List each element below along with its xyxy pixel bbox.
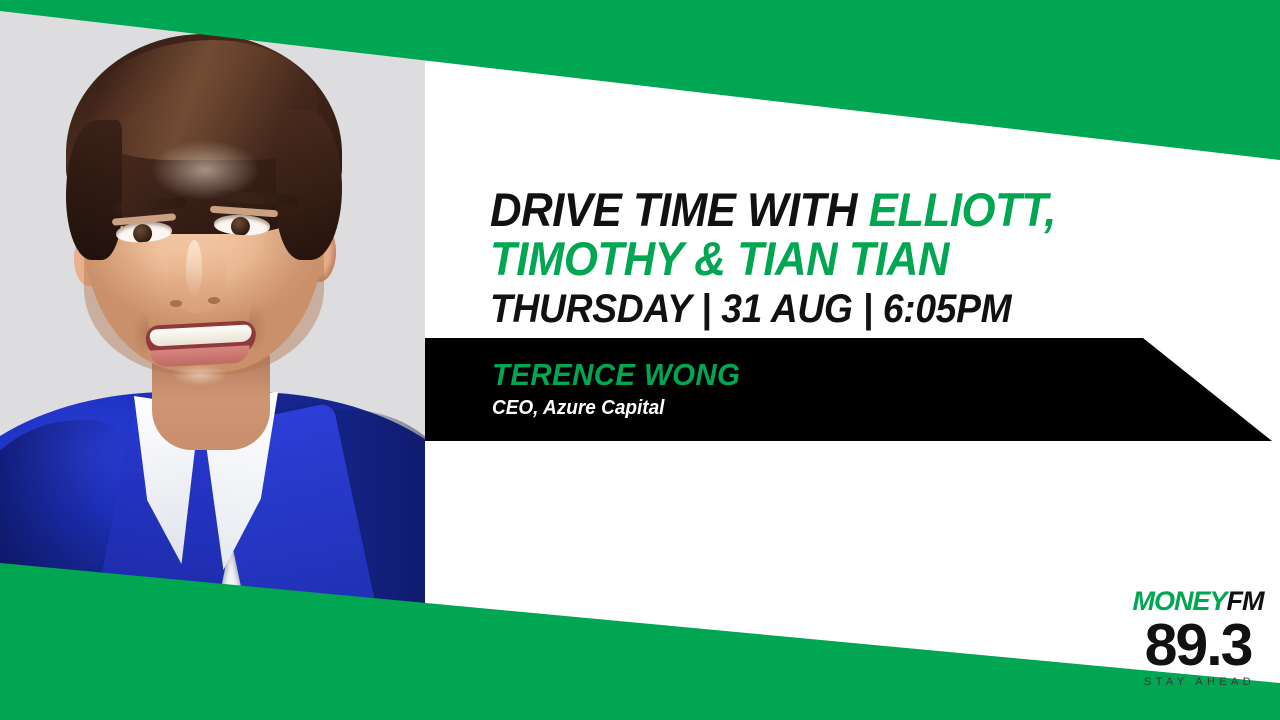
nostril-left xyxy=(170,300,182,307)
show-title-hosts-line2: TIMOTHY & TIAN TIAN xyxy=(490,232,949,285)
forehead-highlight xyxy=(150,140,260,200)
station-logo: MONEYFM 89.3 STAY AHEAD xyxy=(1128,588,1268,688)
iris-right xyxy=(230,216,250,236)
hair-side-left xyxy=(66,120,122,260)
nostril-right xyxy=(208,297,220,304)
show-title: DRIVE TIME WITH ELLIOTT,TIMOTHY & TIAN T… xyxy=(490,186,1178,284)
chin-highlight xyxy=(172,364,228,386)
show-title-plain: DRIVE TIME WITH xyxy=(490,183,869,236)
show-schedule: THURSDAY | 31 AUG | 6:05PM xyxy=(490,287,1011,332)
guest-role: CEO, Azure Capital xyxy=(492,397,664,420)
broadcast-promo-graphic: DRIVE TIME WITH ELLIOTT,TIMOTHY & TIAN T… xyxy=(0,0,1280,720)
nose-highlight xyxy=(186,240,202,298)
logo-wordmark: MONEYFM xyxy=(1128,588,1268,615)
guest-name: TERENCE WONG xyxy=(492,357,740,393)
iris-left xyxy=(132,223,152,243)
logo-frequency: 89.3 xyxy=(1128,616,1268,675)
show-title-hosts-line1: ELLIOTT, xyxy=(869,183,1056,236)
teeth xyxy=(149,324,252,346)
logo-tagline: STAY AHEAD xyxy=(1128,677,1268,688)
